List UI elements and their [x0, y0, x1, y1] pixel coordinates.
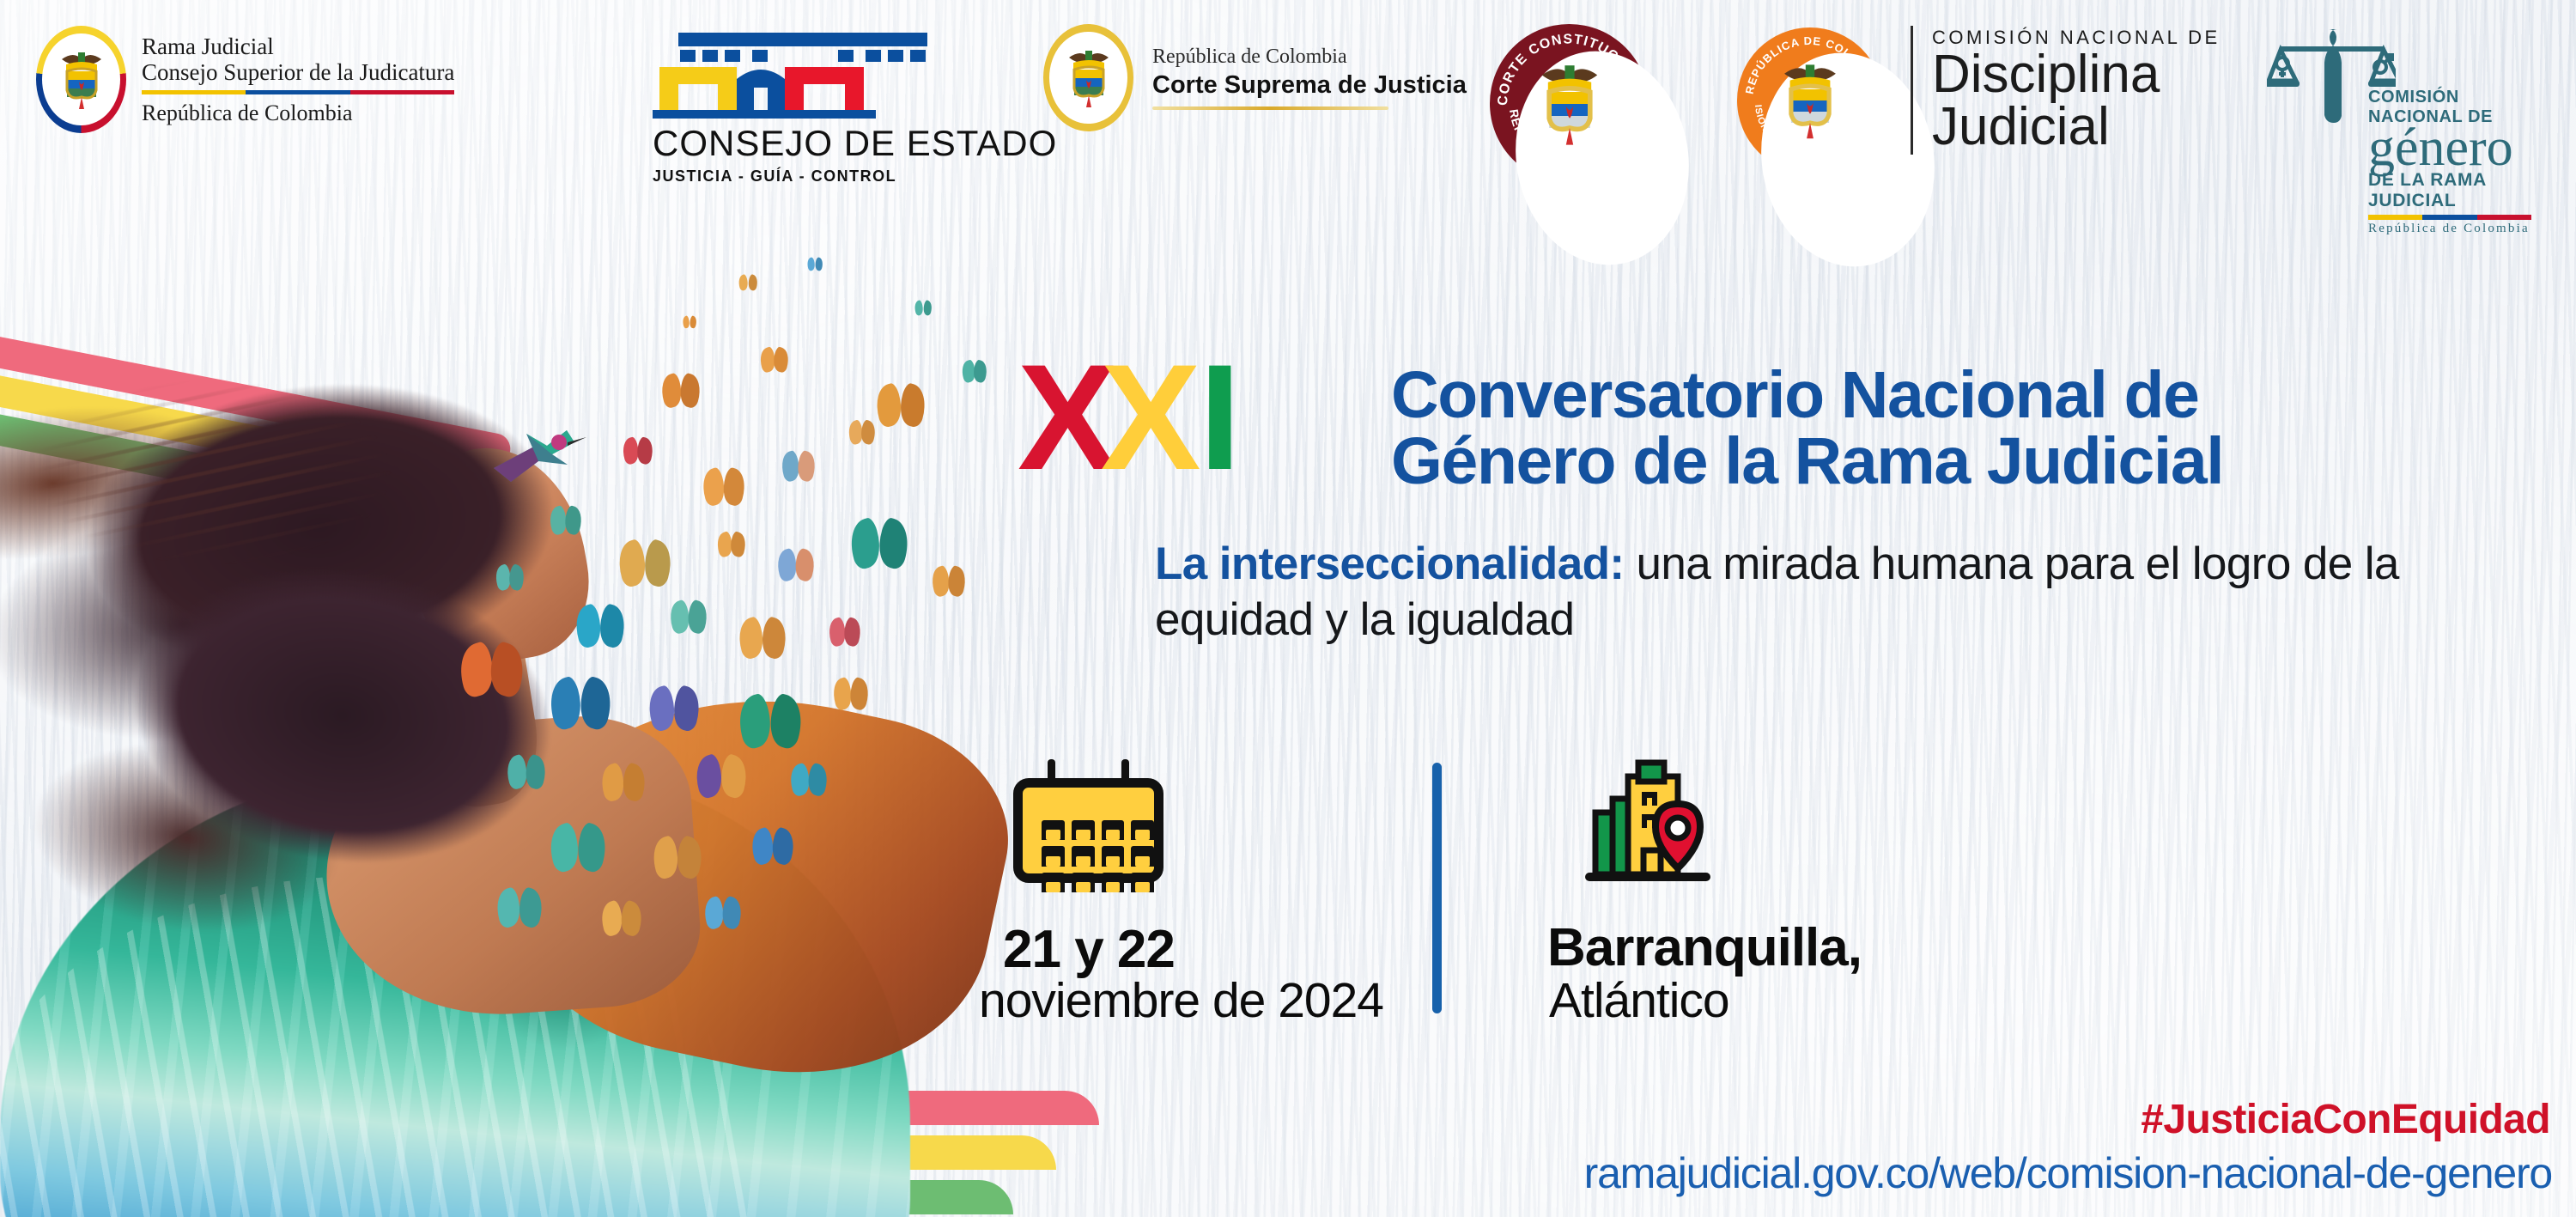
consejo-de-estado-subtitle: JUSTICIA - GUÍA - CONTROL [653, 167, 1057, 186]
colombia-seal-oval-icon [1043, 24, 1133, 131]
butterfly [696, 756, 747, 797]
butterfly [829, 618, 861, 646]
coat-of-arms-icon [1772, 56, 1848, 145]
butterfly [575, 605, 625, 647]
title-line-1: Conversatorio Nacional de [1391, 362, 2576, 429]
woman-with-butterflies-illustration [0, 163, 996, 1217]
butterfly [550, 825, 606, 871]
butterfly [777, 550, 815, 581]
butterfly [738, 696, 802, 747]
event-banner: Rama Judicial Consejo Superior de la Jud… [0, 0, 2576, 1217]
butterfly [932, 567, 966, 596]
butterfly [653, 837, 702, 878]
butterfly [914, 301, 932, 315]
logo-comision-nacional-disciplina-judicial-seal: REPÚBLICA DE COLOMBIA COMISIÓN NAL. DE D… [1737, 27, 1883, 173]
event-date-sub: noviembre de 2024 [979, 972, 1383, 1029]
colombia-seal-oval-icon [36, 26, 126, 133]
butterfly [550, 507, 582, 534]
coat-of-arms-icon [1529, 56, 1610, 152]
vertical-rule [1911, 26, 1913, 155]
butterfly [790, 764, 828, 795]
butterfly [683, 316, 696, 328]
butterfly [459, 644, 525, 696]
butterfly [751, 829, 794, 864]
event-meta: 21 y 22 noviembre de 2024 Barranquilla, … [979, 756, 2267, 1022]
butterfly [738, 618, 787, 658]
event-subtitle: La interseccionalidad: una mirada humana… [1155, 537, 2494, 648]
corte-suprema-rule [1152, 106, 1388, 110]
butterfly [601, 764, 646, 800]
butterfly [495, 565, 525, 590]
logo-corte-suprema-de-justicia: República de Colombia Corte Suprema de J… [1043, 24, 1467, 131]
disciplina-line1: Disciplina [1932, 49, 2221, 101]
hair-strands [0, 344, 429, 601]
calendar-icon [1013, 763, 1163, 883]
event-place-main: Barranquilla, [1547, 917, 1862, 978]
hashtag: #JusticiaConEquidad [2141, 1096, 2550, 1143]
institutional-logo-strip: Rama Judicial Consejo Superior de la Jud… [0, 0, 2576, 215]
butterfly [717, 532, 746, 557]
hummingbird-icon [485, 408, 588, 490]
website-url[interactable]: ramajudicial.gov.co/web/comision-naciona… [1584, 1148, 2552, 1198]
consejo-de-estado-title: CONSEJO DE ESTADO [653, 123, 1057, 164]
meta-divider [1432, 763, 1442, 1013]
corte-suprema-line2: Corte Suprema de Justicia [1152, 71, 1467, 100]
genero-line2: género [2368, 127, 2531, 170]
edition-letter-2: X [1101, 354, 1196, 484]
title-line-2: Género de la Rama Judicial [1391, 429, 2576, 495]
butterfly [760, 348, 789, 372]
butterfly [670, 601, 708, 633]
butterfly [848, 421, 876, 444]
coat-of-arms-icon [1062, 44, 1115, 113]
butterfly [648, 687, 700, 730]
coat-of-arms-icon [55, 46, 108, 114]
consejo-de-estado-building-icon [653, 27, 953, 122]
event-date-main: 21 y 22 [1003, 919, 1175, 980]
butterfly [738, 275, 757, 290]
city-location-pin-icon [1580, 759, 1717, 888]
page-title: Conversatorio Nacional de Género de la R… [1391, 362, 2576, 495]
butterfly [962, 361, 987, 382]
butterfly [807, 258, 823, 271]
logo-corte-constitucional: CORTE CONSTITUCIONAL REPÚBLICA DE COLOMB… [1490, 24, 1649, 183]
logo-disciplina-judicial: COMISIÓN NACIONAL DE Disciplina Judicial [1911, 26, 2221, 155]
butterfly [623, 438, 653, 464]
logo-rama-judicial: Rama Judicial Consejo Superior de la Jud… [36, 26, 454, 133]
genero-line4: República de Colombia [2368, 222, 2531, 236]
butterfly [507, 756, 546, 788]
logo-consejo-de-estado: CONSEJO DE ESTADO JUSTICIA - GUÍA - CONT… [653, 27, 1057, 186]
rama-judicial-line3: República de Colombia [142, 100, 454, 125]
butterfly [702, 469, 745, 505]
corte-suprema-line1: República de Colombia [1152, 46, 1467, 69]
butterfly [781, 452, 816, 481]
butterfly [601, 902, 642, 935]
tricolor-rule [2368, 215, 2531, 220]
butterfly [618, 541, 671, 586]
edition-number: X X I [1018, 354, 1236, 484]
butterfly [550, 678, 611, 728]
butterfly [876, 385, 926, 426]
edition-letter-3: I [1199, 354, 1236, 484]
disciplina-line2: Judicial [1932, 101, 2221, 154]
butterfly [496, 889, 543, 927]
butterfly [661, 374, 701, 407]
rama-judicial-line2: Consejo Superior de la Judicatura [142, 59, 454, 85]
tricolor-rule [142, 90, 454, 94]
subtitle-highlight: La interseccionalidad: [1155, 539, 1624, 589]
butterfly [850, 520, 908, 568]
edition-letter-1: X [1018, 354, 1113, 484]
butterfly [833, 678, 869, 709]
event-place-sub: Atlántico [1549, 972, 1729, 1029]
butterfly [704, 898, 742, 928]
rama-judicial-line1: Rama Judicial [142, 33, 454, 59]
